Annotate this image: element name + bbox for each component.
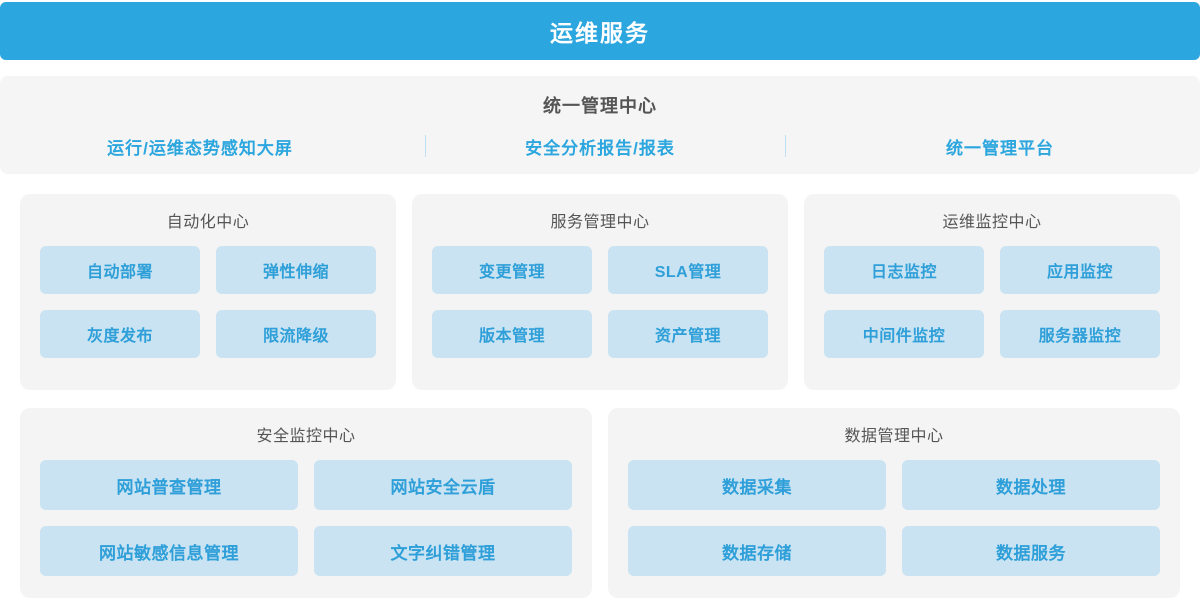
panel-automation-center: 自动化中心 自动部署 弹性伸缩 灰度发布 限流降级 (20, 194, 396, 390)
page-banner: 运维服务 (0, 2, 1200, 60)
tile-website-security-cloud-shield[interactable]: 网站安全云盾 (314, 460, 572, 510)
unified-management-center-band: 统一管理中心 运行/运维态势感知大屏 安全分析报告/报表 统一管理平台 (0, 76, 1200, 174)
panel-data-management-center: 数据管理中心 数据采集 数据处理 数据存储 数据服务 (608, 408, 1180, 598)
tile-change-management[interactable]: 变更管理 (432, 246, 592, 294)
tile-elastic-scaling[interactable]: 弹性伸缩 (216, 246, 376, 294)
mgmt-link-management-platform[interactable]: 统一管理平台 (800, 134, 1200, 159)
tile-gray-release[interactable]: 灰度发布 (40, 310, 200, 358)
tile-rate-limit-degrade[interactable]: 限流降级 (216, 310, 376, 358)
tile-auto-deploy[interactable]: 自动部署 (40, 246, 200, 294)
tile-data-processing[interactable]: 数据处理 (902, 460, 1160, 510)
tile-grid: 数据采集 数据处理 数据存储 数据服务 (628, 460, 1160, 576)
tile-data-collection[interactable]: 数据采集 (628, 460, 886, 510)
panel-title: 数据管理中心 (844, 422, 943, 446)
mgmt-link-situation-dashboard[interactable]: 运行/运维态势感知大屏 (0, 134, 400, 159)
panel-service-management-center: 服务管理中心 变更管理 SLA管理 版本管理 资产管理 (412, 194, 788, 390)
tile-grid: 变更管理 SLA管理 版本管理 资产管理 (432, 246, 768, 358)
tile-data-storage[interactable]: 数据存储 (628, 526, 886, 576)
panel-ops-monitoring-center: 运维监控中心 日志监控 应用监控 中间件监控 服务器监控 (804, 194, 1180, 390)
architecture-diagram: 运维服务 统一管理中心 运行/运维态势感知大屏 安全分析报告/报表 统一管理平台… (0, 0, 1200, 602)
tile-grid: 日志监控 应用监控 中间件监控 服务器监控 (824, 246, 1160, 358)
centers-row-middle: 自动化中心 自动部署 弹性伸缩 灰度发布 限流降级 服务管理中心 变更管理 SL… (20, 194, 1180, 390)
tile-grid: 自动部署 弹性伸缩 灰度发布 限流降级 (40, 246, 376, 358)
panel-title: 安全监控中心 (256, 422, 355, 446)
tile-website-sensitive-info-management[interactable]: 网站敏感信息管理 (40, 526, 298, 576)
divider-1 (425, 135, 426, 157)
centers-row-bottom: 安全监控中心 网站普查管理 网站安全云盾 网站敏感信息管理 文字纠错管理 数据管… (20, 408, 1180, 598)
tile-application-monitoring[interactable]: 应用监控 (1000, 246, 1160, 294)
tile-server-monitoring[interactable]: 服务器监控 (1000, 310, 1160, 358)
panel-title: 服务管理中心 (550, 208, 649, 232)
tile-sla-management[interactable]: SLA管理 (608, 246, 768, 294)
panel-title: 运维监控中心 (942, 208, 1041, 232)
unified-management-links: 运行/运维态势感知大屏 安全分析报告/报表 统一管理平台 (0, 134, 1200, 159)
unified-management-center-title: 统一管理中心 (543, 92, 657, 118)
page-title: 运维服务 (550, 14, 650, 48)
panel-title: 自动化中心 (167, 208, 250, 232)
tile-text-correction-management[interactable]: 文字纠错管理 (314, 526, 572, 576)
mgmt-link-security-report[interactable]: 安全分析报告/报表 (400, 134, 800, 159)
tile-asset-management[interactable]: 资产管理 (608, 310, 768, 358)
tile-middleware-monitoring[interactable]: 中间件监控 (824, 310, 984, 358)
tile-grid: 网站普查管理 网站安全云盾 网站敏感信息管理 文字纠错管理 (40, 460, 572, 576)
tile-version-management[interactable]: 版本管理 (432, 310, 592, 358)
divider-2 (785, 135, 786, 157)
tile-website-census-management[interactable]: 网站普查管理 (40, 460, 298, 510)
tile-log-monitoring[interactable]: 日志监控 (824, 246, 984, 294)
tile-data-service[interactable]: 数据服务 (902, 526, 1160, 576)
panel-security-monitoring-center: 安全监控中心 网站普查管理 网站安全云盾 网站敏感信息管理 文字纠错管理 (20, 408, 592, 598)
